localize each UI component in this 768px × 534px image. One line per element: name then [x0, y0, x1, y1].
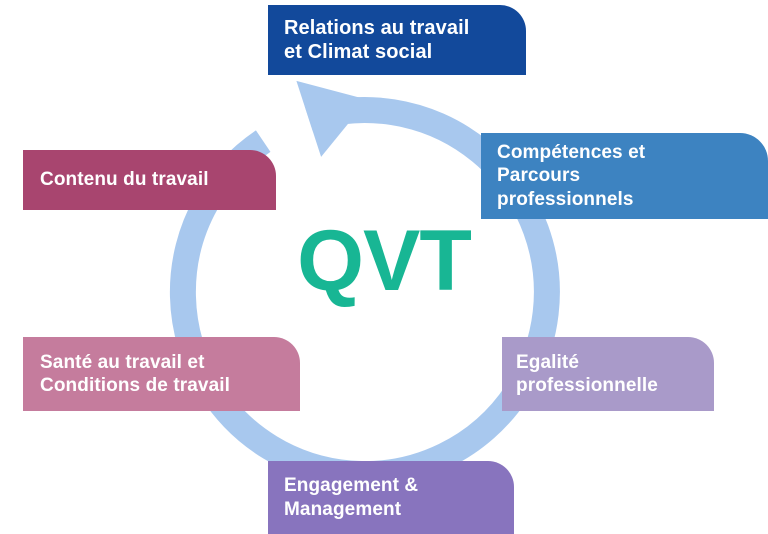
card-relations-au-travail[interactable]: Relations au travail et Climat social	[268, 5, 526, 75]
card-engagement-management[interactable]: Engagement & Management	[268, 461, 514, 534]
card-sante-label: Santé au travail et Conditions de travai…	[40, 351, 284, 397]
card-egalite-label: Egalité professionnelle	[516, 351, 698, 397]
card-sante-au-travail[interactable]: Santé au travail et Conditions de travai…	[23, 337, 300, 411]
qvt-diagram: Relations au travail et Climat social Co…	[0, 0, 768, 534]
card-contenu-du-travail[interactable]: Contenu du travail	[23, 150, 276, 210]
card-engagement-label: Engagement & Management	[284, 474, 498, 520]
card-competences-parcours[interactable]: Compétences et Parcours professionnels	[481, 133, 768, 219]
card-competences-label: Compétences et Parcours professionnels	[497, 141, 752, 211]
card-egalite-professionnelle[interactable]: Egalité professionnelle	[502, 337, 714, 411]
card-contenu-label: Contenu du travail	[40, 168, 260, 191]
card-relations-label: Relations au travail et Climat social	[284, 16, 510, 65]
center-acronym: QVT	[0, 218, 768, 304]
